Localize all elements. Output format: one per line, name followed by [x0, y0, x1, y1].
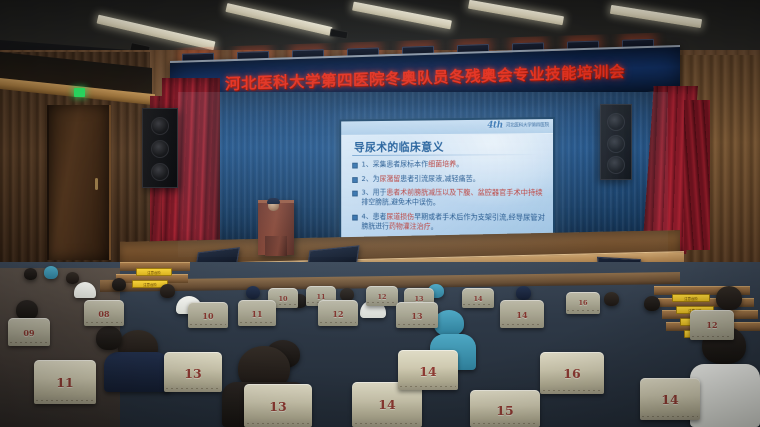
audience-member-head — [160, 284, 175, 298]
auditorium-seat: 16 — [540, 352, 604, 394]
auditorium-seat: 16 — [566, 292, 600, 314]
seat-number: 10 — [278, 295, 287, 303]
seat-cover-seam — [166, 388, 219, 389]
logo-mark-text: 4th — [487, 121, 503, 131]
auditorium-seat: 13 — [396, 302, 438, 328]
seat-number: 14 — [661, 392, 678, 407]
auditorium-seat: 14 — [462, 288, 494, 308]
seat-cover-seam — [400, 386, 455, 387]
audience-member-head — [434, 310, 464, 336]
auditorium-seat: 10 — [188, 302, 228, 328]
seat-number: 12 — [377, 293, 386, 301]
slide-bullet: 1、采集患者尿标本作细菌培养。 — [352, 159, 545, 169]
seat-number: 09 — [23, 328, 34, 338]
seat-number: 13 — [269, 399, 286, 414]
seat-cover-seam — [355, 423, 419, 424]
auditorium-seat: 14 — [398, 350, 458, 390]
audience-member-body — [104, 352, 170, 392]
seat-cover-seam — [543, 390, 602, 391]
seat-number: 12 — [706, 320, 717, 330]
event-banner-text: 河北医科大学第四医院冬奥队员冬残奥会专业技能培训会 — [170, 58, 680, 96]
hospital-logo: 4th 河北医科大学第四医院 — [487, 120, 549, 131]
slide-title-underline — [352, 154, 539, 156]
stair-warning-text: 注意台阶 — [684, 296, 698, 301]
seat-number: 13 — [411, 311, 422, 321]
seat-number: 14 — [378, 397, 395, 412]
presenter-cap — [267, 198, 280, 204]
stage-curtain-right-outer — [684, 100, 710, 250]
audience-member-body — [690, 364, 760, 427]
seat-number: 12 — [332, 309, 343, 319]
exit-sign-icon — [74, 88, 85, 97]
slide-bullet: 3、用于患者术前膀胱减压以及下腹、盆腔器官手术中持续排空膀胱,避免术中误伤。 — [352, 188, 545, 208]
slide-bullet-text: 3、用于患者术前膀胱减压以及下腹、盆腔器官手术中持续排空膀胱,避免术中误伤。 — [361, 188, 545, 208]
auditorium-seat: 12 — [690, 310, 734, 340]
stair-warning-label: 注意台阶 — [672, 294, 710, 302]
audience-member-head — [66, 272, 79, 284]
audience-member-body — [74, 282, 96, 298]
seat-number: 14 — [473, 295, 482, 303]
lectern-base — [265, 236, 287, 256]
logo-hospital-name: 河北医科大学第四医院 — [506, 122, 549, 128]
stair-warning-text: 注意台阶 — [147, 270, 161, 275]
presentation-slide: 4th 河北医科大学第四医院 导尿术的临床意义 1、采集患者尿标本作细菌培养。2… — [341, 119, 553, 244]
bullet-marker-icon — [352, 163, 358, 169]
auditorium-seat: 13 — [164, 352, 222, 392]
door-handle[interactable] — [95, 178, 98, 190]
auditorium-seat: 11 — [34, 360, 96, 404]
seat-cover-seam — [367, 302, 396, 303]
seat-cover-seam — [642, 416, 697, 417]
lecture-hall-photo: 河北医科大学第四医院冬奥队员冬残奥会专业技能培训会 4th 河北医科大学第四医院… — [0, 0, 760, 427]
pa-speaker-left — [142, 108, 178, 188]
audience-member-head — [644, 296, 660, 311]
audience-member-head — [16, 300, 38, 320]
slide-bullet-text: 1、采集患者尿标本作细菌培养。 — [361, 159, 545, 169]
seat-cover-seam — [502, 324, 543, 325]
seat-number: 14 — [516, 310, 527, 320]
seat-cover-seam — [473, 423, 537, 424]
auditorium-seat: 14 — [500, 300, 544, 328]
pa-speaker-right — [600, 104, 632, 180]
stair-warning-label: 注意台阶 — [136, 268, 172, 276]
audience-member-head — [112, 278, 126, 291]
slide-title: 导尿术的临床意义 — [354, 139, 444, 155]
seat-number: 11 — [251, 309, 262, 319]
seat-cover-seam — [692, 336, 733, 337]
seat-number: 14 — [419, 364, 436, 379]
seat-cover-seam — [463, 304, 492, 305]
seat-cover-seam — [320, 322, 357, 323]
auditorium-seat: 12 — [318, 300, 358, 326]
seat-number: 16 — [563, 366, 580, 381]
seat-number: 11 — [56, 375, 73, 390]
auditorium-seat: 15 — [470, 390, 540, 427]
audience-member-head — [716, 286, 742, 310]
auditorium-seat: 12 — [366, 286, 398, 306]
seat-cover-seam — [567, 310, 598, 311]
slide-bullet-text: 4、患者尿道损伤早期或者手术后作为支架引流,经导尿管对膀胱进行药物灌注治疗。 — [361, 211, 545, 232]
seat-cover-seam — [36, 400, 93, 401]
stair-warning-text: 注意台阶 — [143, 282, 157, 287]
audience-member-head — [516, 286, 531, 300]
auditorium-seat: 09 — [8, 318, 50, 346]
bullet-marker-icon — [352, 191, 358, 197]
slide-bullet-list: 1、采集患者尿标本作细菌培养。2、为尿潴留患者引流尿液,减轻痛苦。3、用于患者术… — [352, 159, 545, 237]
seat-cover-seam — [247, 423, 310, 424]
side-door[interactable] — [47, 105, 111, 260]
audience-member-head — [24, 268, 37, 280]
bullet-marker-icon — [352, 177, 358, 183]
audience-member-head — [246, 286, 260, 299]
auditorium-seat: 13 — [244, 384, 312, 427]
seat-number: 08 — [98, 309, 109, 319]
seat-cover-seam — [10, 342, 49, 343]
slide-bullet: 2、为尿潴留患者引流尿液,减轻痛苦。 — [352, 174, 545, 184]
auditorium-seat: 14 — [640, 378, 700, 420]
auditorium-seat: 11 — [238, 300, 276, 326]
seat-number: 15 — [496, 403, 513, 418]
seat-cover-seam — [86, 322, 123, 323]
seat-cover-seam — [190, 324, 227, 325]
auditorium-seat: 08 — [84, 300, 124, 326]
slide-bullet: 4、患者尿道损伤早期或者手术后作为支架引流,经导尿管对膀胱进行药物灌注治疗。 — [352, 211, 545, 232]
seat-cover-seam — [240, 322, 275, 323]
seat-number: 10 — [202, 311, 213, 321]
audience-member-head — [96, 326, 122, 350]
bullet-marker-icon — [352, 214, 358, 220]
seat-cover-seam — [398, 324, 437, 325]
projection-screen: 4th 河北医科大学第四医院 导尿术的临床意义 1、采集患者尿标本作细菌培养。2… — [339, 117, 555, 246]
seat-number: 13 — [184, 366, 201, 381]
audience-member-head — [44, 266, 58, 279]
seat-number: 16 — [578, 299, 587, 307]
slide-bullet-text: 2、为尿潴留患者引流尿液,减轻痛苦。 — [361, 174, 545, 184]
audience-member-head — [604, 292, 619, 306]
